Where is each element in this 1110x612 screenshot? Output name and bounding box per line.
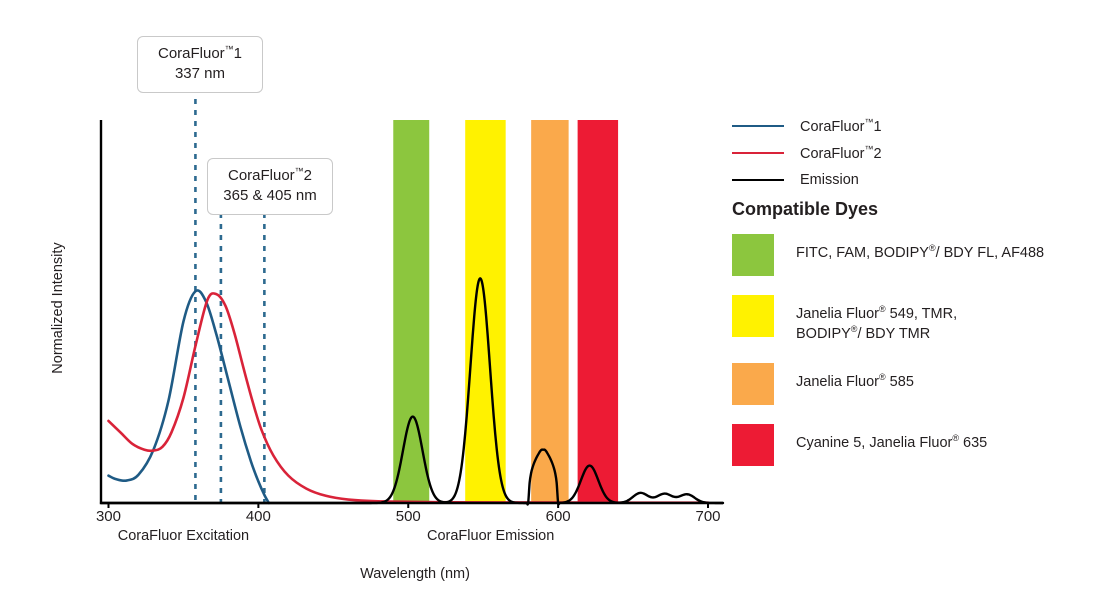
orange-band bbox=[531, 120, 568, 503]
annotation1-label: CoraFluor™1 bbox=[158, 45, 242, 62]
annotation-callout-corafluor2: CoraFluor™2 365 & 405 nm bbox=[207, 158, 333, 215]
trademark-symbol: ™ bbox=[225, 44, 234, 54]
legend-label: CoraFluor™2 bbox=[800, 144, 882, 162]
y-axis-label: Normalized Intensity bbox=[50, 208, 66, 408]
annotation1-value: 337 nm bbox=[148, 64, 252, 84]
excitation-curve bbox=[108, 290, 268, 503]
legend-label: CoraFluor™1 bbox=[800, 117, 882, 135]
registered-symbol: ® bbox=[879, 304, 886, 314]
dye-legend-row: FITC, FAM, BODIPY®/ BDY FL, AF488 bbox=[732, 234, 1102, 276]
compatible-dyes-title: Compatible Dyes bbox=[732, 199, 878, 220]
dye-label: Janelia Fluor® 585 bbox=[796, 363, 914, 392]
legend-item-emission: Emission bbox=[732, 166, 1092, 193]
trademark-symbol: ™ bbox=[295, 166, 304, 176]
registered-symbol: ® bbox=[929, 243, 936, 253]
dye-color-swatch bbox=[732, 295, 774, 337]
dye-color-swatch bbox=[732, 424, 774, 466]
annotation-callout-corafluor1: CoraFluor™1 337 nm bbox=[137, 36, 263, 93]
legend-line-swatch bbox=[732, 179, 784, 181]
legend-label: Emission bbox=[800, 172, 859, 188]
x-tick-label: 700 bbox=[678, 508, 738, 525]
x-tick-label: 500 bbox=[378, 508, 438, 525]
legend-item-corafluor1: CoraFluor™1 bbox=[732, 112, 1092, 139]
registered-symbol: ® bbox=[879, 372, 886, 382]
legend-item-corafluor2: CoraFluor™2 bbox=[732, 139, 1092, 166]
x-axis-label: Wavelength (nm) bbox=[300, 566, 530, 582]
legend-line-swatch bbox=[732, 152, 784, 154]
compatible-dyes-legend: FITC, FAM, BODIPY®/ BDY FL, AF488 Janeli… bbox=[732, 234, 1102, 485]
dye-legend-row: Janelia Fluor® 585 bbox=[732, 363, 1102, 405]
x-tick-label: 400 bbox=[228, 508, 288, 525]
x-tick-label: 300 bbox=[78, 508, 138, 525]
dye-label: FITC, FAM, BODIPY®/ BDY FL, AF488 bbox=[796, 234, 1044, 263]
emission-caption: CoraFluor Emission bbox=[391, 528, 591, 544]
annotation2-label: CoraFluor™2 bbox=[228, 167, 312, 184]
dye-color-swatch bbox=[732, 234, 774, 276]
dye-label: Cyanine 5, Janelia Fluor® 635 bbox=[796, 424, 987, 453]
legend-line-swatch bbox=[732, 125, 784, 127]
dye-legend-row: Janelia Fluor® 549, TMR,BODIPY®/ BDY TMR bbox=[732, 295, 1102, 344]
red-band bbox=[578, 120, 618, 503]
series-legend: CoraFluor™1 CoraFluor™2 Emission bbox=[732, 112, 1092, 193]
annotation2-value: 365 & 405 nm bbox=[218, 186, 322, 206]
excitation-caption: CoraFluor Excitation bbox=[83, 528, 283, 544]
dye-color-swatch bbox=[732, 363, 774, 405]
dye-label: Janelia Fluor® 549, TMR,BODIPY®/ BDY TMR bbox=[796, 295, 957, 344]
dye-legend-row: Cyanine 5, Janelia Fluor® 635 bbox=[732, 424, 1102, 466]
green-band bbox=[393, 120, 429, 503]
x-tick-label: 600 bbox=[528, 508, 588, 525]
figure-canvas: CoraFluor™1 337 nm CoraFluor™2 365 & 405… bbox=[0, 0, 1110, 612]
